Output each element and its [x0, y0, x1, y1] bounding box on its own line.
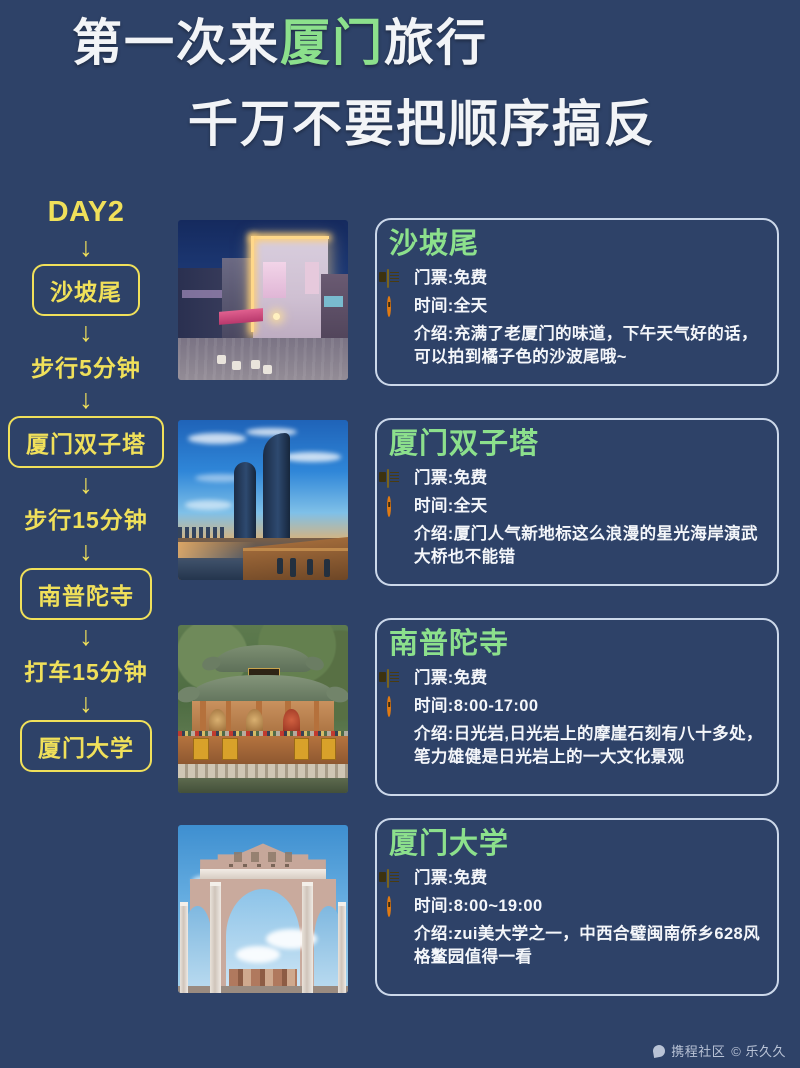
poster-root: 第一次来厦门旅行 千万不要把顺序搞反 DAY2 ↓ 沙坡尾 ↓ 步行5分钟 ↓ …: [0, 0, 800, 1068]
timeline-step-twin-towers[interactable]: 厦门双子塔: [8, 416, 164, 468]
timeline-arrow-icon: ↓: [79, 623, 93, 650]
title-prefix: 第一次来: [72, 15, 280, 71]
timeline-arrow-icon: ↓: [79, 471, 93, 498]
star-icon: [387, 326, 411, 348]
spot-intro-row: 介绍:日光岩,日光岩上的摩崖石刻有八十多处，笔力雄健是日光岩上的一大文化景观: [387, 723, 765, 770]
spot-ticket-text: 门票:免费: [414, 267, 765, 290]
star-icon: [387, 926, 411, 948]
spot-time-row: 时间:8:00-17:00: [387, 695, 765, 720]
timeline-arrow-icon: ↓: [79, 386, 93, 413]
ticket-icon: [387, 870, 411, 892]
spot-ticket-row: 门票:免费: [387, 867, 765, 892]
spot-ticket-text: 门票:免费: [414, 467, 765, 490]
clock-icon: [387, 698, 411, 720]
spot-intro-row: 介绍:厦门人气新地标这么浪漫的星光海岸演武大桥也不能错: [387, 523, 765, 570]
timeline-transit-taxi-15min: 打车15分钟: [24, 653, 148, 687]
spot-intro-row: 介绍:zui美大学之一，中西合璧闽南侨乡628风格鳌园值得一看: [387, 923, 765, 970]
spot-card-xiamen-university: 厦门大学 门票:免费 时间:8:00~19:00 介绍:zui美大学之一，中西合…: [375, 818, 779, 996]
spot-ticket-text: 门票:免费: [414, 667, 765, 690]
ticket-icon: [387, 270, 411, 292]
star-icon: [387, 726, 411, 748]
footer-community-label: 携程社区: [671, 1041, 725, 1060]
spot-intro-text: 介绍:日光岩,日光岩上的摩崖石刻有八十多处，笔力雄健是日光岩上的一大文化景观: [414, 723, 765, 770]
spot-time-text: 时间:全天: [414, 295, 765, 318]
poster-title: 第一次来厦门旅行 千万不要把顺序搞反: [0, 14, 800, 154]
shapowei-night-street-photo: [178, 220, 348, 380]
spot-ticket-row: 门票:免费: [387, 467, 765, 492]
clock-icon: [387, 898, 411, 920]
title-highlight-xiamen: 厦门: [280, 15, 384, 71]
clock-icon: [387, 498, 411, 520]
ctrip-logo-icon: [652, 1044, 666, 1058]
itinerary-timeline: DAY2 ↓ 沙坡尾 ↓ 步行5分钟 ↓ 厦门双子塔 ↓ 步行15分钟 ↓ 南普…: [0, 196, 172, 772]
nanputuo-temple-photo: [178, 625, 348, 793]
title-line-1: 第一次来厦门旅行: [0, 14, 800, 73]
timeline-step-nanputuo[interactable]: 南普陀寺: [20, 568, 152, 620]
clock-icon: [387, 298, 411, 320]
spot-row: 南普陀寺 门票:免费 时间:8:00-17:00 介绍:日光岩,日光岩上的摩崖石…: [178, 618, 788, 818]
spot-card-nanputuo: 南普陀寺 门票:免费 时间:8:00-17:00 介绍:日光岩,日光岩上的摩崖石…: [375, 618, 779, 796]
spot-title: 南普陀寺: [389, 629, 765, 661]
xiamen-twin-towers-sunset-photo: [178, 420, 348, 580]
timeline-step-xiamen-university[interactable]: 厦门大学: [20, 720, 152, 772]
timeline-transit-walk-5min: 步行5分钟: [31, 349, 141, 383]
spot-card-shapowei: 沙坡尾 门票:免费 时间:全天 介绍:充满了老厦门的味道，下午天气好的话，可以拍…: [375, 218, 779, 386]
timeline-transit-walk-15min: 步行15分钟: [24, 501, 148, 535]
xiamen-university-gate-photo: [178, 825, 348, 993]
star-icon: [387, 526, 411, 548]
timeline-arrow-icon: ↓: [79, 538, 93, 565]
footer-copyright: © 乐久久: [731, 1041, 786, 1060]
spot-intro-row: 介绍:充满了老厦门的味道，下午天气好的话，可以拍到橘子色的沙波尾哦~: [387, 323, 765, 370]
spot-time-row: 时间:全天: [387, 295, 765, 320]
spot-row: 厦门双子塔 门票:免费 时间:全天 介绍:厦门人气新地标这么浪漫的星光海岸演武大…: [178, 418, 788, 618]
spot-intro-text: 介绍:zui美大学之一，中西合璧闽南侨乡628风格鳌园值得一看: [414, 923, 765, 970]
ticket-icon: [387, 670, 411, 692]
timeline-arrow-icon: ↓: [79, 690, 93, 717]
title-suffix: 旅行: [384, 15, 488, 71]
spot-time-row: 时间:8:00~19:00: [387, 895, 765, 920]
spot-ticket-row: 门票:免费: [387, 267, 765, 292]
spot-rows: 沙坡尾 门票:免费 时间:全天 介绍:充满了老厦门的味道，下午天气好的话，可以拍…: [178, 218, 788, 1018]
spot-ticket-text: 门票:免费: [414, 867, 765, 890]
spot-time-text: 时间:8:00~19:00: [414, 895, 765, 918]
spot-title: 厦门双子塔: [389, 429, 765, 461]
timeline-arrow-icon: ↓: [79, 319, 93, 346]
spot-title: 厦门大学: [389, 829, 765, 861]
spot-card-twin-towers: 厦门双子塔 门票:免费 时间:全天 介绍:厦门人气新地标这么浪漫的星光海岸演武大…: [375, 418, 779, 586]
spot-intro-text: 介绍:充满了老厦门的味道，下午天气好的话，可以拍到橘子色的沙波尾哦~: [414, 323, 765, 370]
spot-row: 厦门大学 门票:免费 时间:8:00~19:00 介绍:zui美大学之一，中西合…: [178, 818, 788, 1018]
spot-ticket-row: 门票:免费: [387, 667, 765, 692]
spot-time-text: 时间:全天: [414, 495, 765, 518]
spot-time-row: 时间:全天: [387, 495, 765, 520]
timeline-arrow-icon: ↓: [79, 234, 93, 261]
footer-watermark: 携程社区 © 乐久久: [653, 1041, 786, 1060]
ticket-icon: [387, 470, 411, 492]
spot-title: 沙坡尾: [389, 229, 765, 261]
spot-row: 沙坡尾 门票:免费 时间:全天 介绍:充满了老厦门的味道，下午天气好的话，可以拍…: [178, 218, 788, 418]
spot-intro-text: 介绍:厦门人气新地标这么浪漫的星光海岸演武大桥也不能错: [414, 523, 765, 570]
timeline-step-shapowei[interactable]: 沙坡尾: [32, 264, 140, 316]
timeline-day-label: DAY2: [48, 196, 125, 229]
title-line-2: 千万不要把顺序搞反: [0, 95, 800, 154]
spot-time-text: 时间:8:00-17:00: [414, 695, 765, 718]
